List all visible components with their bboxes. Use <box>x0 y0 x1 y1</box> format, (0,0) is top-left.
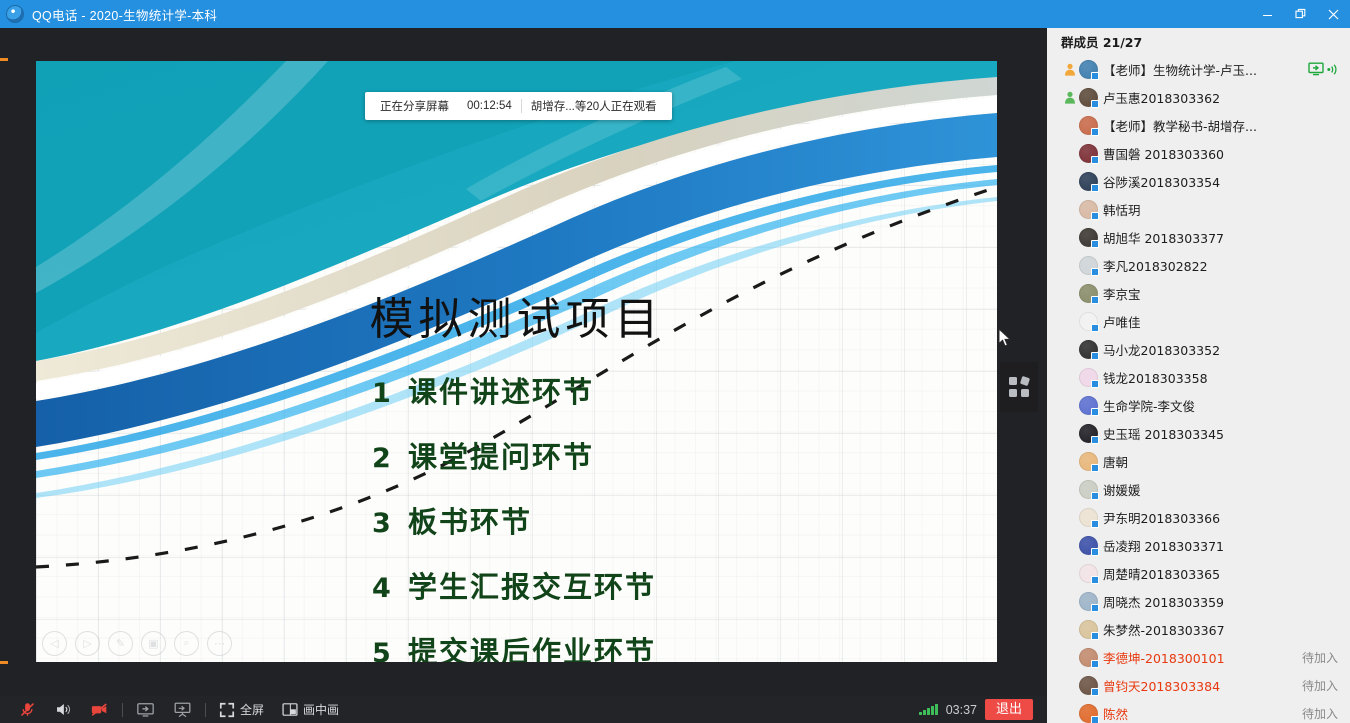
previous-slide-icon[interactable]: ◁ <box>42 631 67 656</box>
close-button[interactable] <box>1317 0 1350 28</box>
member-device-badge <box>1091 296 1099 304</box>
member-list-item[interactable]: 岳凌翔 2018303371 <box>1047 531 1350 559</box>
member-list-item[interactable]: 李京宝 <box>1047 279 1350 307</box>
member-avatar <box>1079 368 1098 387</box>
member-list-item[interactable]: 卢玉惠2018303362 <box>1047 83 1350 111</box>
member-device-badge <box>1091 100 1099 108</box>
member-name: 马小龙2018303352 <box>1103 340 1220 359</box>
presentation-slide: 模拟测试项目 1 课件讲述环节 2 课堂提问环节 3 板书环节 4 学生汇报交互… <box>36 61 997 662</box>
member-list-item[interactable]: 卢唯佳 <box>1047 307 1350 335</box>
member-name: 卢玉惠2018303362 <box>1103 88 1220 107</box>
member-device-badge <box>1091 408 1099 416</box>
qq-penguin-icon <box>6 5 24 23</box>
whiteboard-icon <box>173 701 192 718</box>
member-list-item[interactable]: 胡旭华 2018303377 <box>1047 223 1350 251</box>
member-avatar <box>1079 592 1098 611</box>
member-list-item[interactable]: 李凡2018302822 <box>1047 251 1350 279</box>
fullscreen-icon <box>219 702 235 718</box>
member-list-item[interactable]: 【老师】教学秘书-胡增存... <box>1047 111 1350 139</box>
member-avatar <box>1079 200 1098 219</box>
member-name: 史玉瑶 2018303345 <box>1103 424 1224 443</box>
toolbar-right-group: 03:37 退出 <box>919 699 1037 720</box>
qq-call-window: QQ电话 - 2020-生物统计学-本科 <box>0 0 1350 723</box>
member-name: 卢唯佳 <box>1103 312 1141 331</box>
bullet-item: 1 课件讲述环节 <box>372 369 932 411</box>
member-device-badge <box>1091 324 1099 332</box>
slide-bullet-list: 1 课件讲述环节 2 课堂提问环节 3 板书环节 4 学生汇报交互环节 5 <box>372 369 932 662</box>
bullet-item: 4 学生汇报交互环节 <box>372 564 932 606</box>
member-avatar <box>1079 508 1098 527</box>
exit-call-button[interactable]: 退出 <box>985 699 1033 720</box>
member-list-item[interactable]: 朱梦然-2018303367 <box>1047 615 1350 643</box>
toolbar-divider <box>122 703 123 717</box>
window-title: QQ电话 - 2020-生物统计学-本科 <box>32 5 217 24</box>
member-list-item[interactable]: 周楚晴2018303365 <box>1047 559 1350 587</box>
member-device-badge <box>1091 604 1099 612</box>
share-screen-button[interactable] <box>127 696 164 723</box>
member-name: 谷陟溪2018303354 <box>1103 172 1220 191</box>
member-name: 【老师】生物统计学-卢玉... <box>1103 60 1257 79</box>
member-name: 胡旭华 2018303377 <box>1103 228 1224 247</box>
member-status: 待加入 <box>1302 705 1338 722</box>
shared-screen-stage[interactable]: 模拟测试项目 1 课件讲述环节 2 课堂提问环节 3 板书环节 4 学生汇报交互… <box>0 28 1047 696</box>
share-screen-icon <box>136 701 155 718</box>
restore-button[interactable] <box>1284 0 1317 28</box>
bullet-number: 5 <box>372 638 408 662</box>
member-list-item[interactable]: 陈然待加入 <box>1047 699 1350 723</box>
member-name: 谢媛媛 <box>1103 480 1141 499</box>
bullet-item: 2 课堂提问环节 <box>372 434 932 476</box>
member-device-badge <box>1091 520 1099 528</box>
toolbar-divider <box>205 703 206 717</box>
call-timer: 03:37 <box>946 703 977 717</box>
pen-annotate-icon[interactable]: ✎ <box>108 631 133 656</box>
grid-layout-icon <box>1009 377 1029 397</box>
bullet-number: 4 <box>372 573 408 604</box>
more-options-icon[interactable]: ⋯ <box>207 631 232 656</box>
speaking-person-icon <box>1063 63 1076 76</box>
signal-bars-icon <box>919 704 938 715</box>
member-name: 李京宝 <box>1103 284 1141 303</box>
member-device-badge <box>1091 268 1099 276</box>
bullet-text: 提交课后作业环节 <box>408 629 656 662</box>
speaker-icon <box>54 701 72 718</box>
member-avatar <box>1079 116 1098 135</box>
share-status-text: 正在分享屏幕 <box>371 98 458 114</box>
member-name: 韩恬玥 <box>1103 200 1141 219</box>
member-device-badge <box>1091 240 1099 248</box>
slide-title: 模拟测试项目 <box>36 283 997 347</box>
fullscreen-button[interactable]: 全屏 <box>210 696 273 723</box>
grid-layout-toggle[interactable] <box>1000 362 1038 412</box>
bullet-text: 学生汇报交互环节 <box>408 564 656 606</box>
member-device-badge <box>1091 352 1099 360</box>
member-name: 生命学院-李文俊 <box>1103 396 1195 415</box>
member-name: 陈然 <box>1103 704 1128 723</box>
member-avatar <box>1079 704 1098 723</box>
microphone-muted-icon <box>19 701 36 718</box>
member-list-item[interactable]: 李德坤-2018300101待加入 <box>1047 643 1350 671</box>
member-list-item[interactable]: 唐朝 <box>1047 447 1350 475</box>
member-list-item[interactable]: 曹国磐 2018303360 <box>1047 139 1350 167</box>
member-avatar <box>1079 284 1098 303</box>
speaking-waves-icon <box>1327 63 1338 76</box>
bullet-item: 3 板书环节 <box>372 499 932 541</box>
member-list-item[interactable]: 谢媛媛 <box>1047 475 1350 503</box>
member-list[interactable]: 【老师】生物统计学-卢玉...卢玉惠2018303362【老师】教学秘书-胡增存… <box>1047 55 1350 723</box>
bullet-item: 5 提交课后作业环节 <box>372 629 932 662</box>
member-device-badge <box>1091 716 1099 723</box>
zoom-magnifier-icon[interactable]: ⌕ <box>174 631 199 656</box>
member-avatar <box>1079 256 1098 275</box>
left-accent-top <box>0 58 8 61</box>
member-device-badge <box>1091 156 1099 164</box>
bullet-number: 2 <box>372 443 408 474</box>
member-panel-header: 群成员 21/27 <box>1047 28 1350 55</box>
ppt-playback-controls[interactable]: ◁ ▷ ✎ ▣ ⌕ ⋯ <box>42 631 232 656</box>
screen-share-banner: 正在分享屏幕 00:12:54 胡增存...等20人正在观看 <box>365 92 672 120</box>
member-name: 尹东明2018303366 <box>1103 508 1220 527</box>
window-controls <box>1251 0 1350 28</box>
member-status: 待加入 <box>1302 677 1338 694</box>
member-list-item[interactable]: 马小龙2018303352 <box>1047 335 1350 363</box>
member-avatar <box>1079 676 1098 695</box>
member-name: 朱梦然-2018303367 <box>1103 620 1225 639</box>
member-avatar <box>1079 648 1098 667</box>
window-titlebar[interactable]: QQ电话 - 2020-生物统计学-本科 <box>0 0 1350 28</box>
pip-label: 画中画 <box>303 701 339 718</box>
member-name: 曾钧天2018303384 <box>1103 676 1220 695</box>
member-avatar <box>1079 396 1098 415</box>
mouse-pointer-icon <box>998 328 1012 348</box>
member-avatar <box>1079 480 1098 499</box>
member-name: 李德坤-2018300101 <box>1103 648 1225 667</box>
member-device-badge <box>1091 688 1099 696</box>
member-status: 待加入 <box>1302 649 1338 666</box>
bullet-text: 课件讲述环节 <box>408 369 594 411</box>
speaking-person-icon <box>1063 91 1076 104</box>
member-list-item[interactable]: 周晓杰 2018303359 <box>1047 587 1350 615</box>
member-avatar <box>1079 172 1098 191</box>
speaker-toggle[interactable] <box>45 696 81 723</box>
member-device-badge <box>1091 128 1099 136</box>
bullet-text: 课堂提问环节 <box>408 434 594 476</box>
member-name: 岳凌翔 2018303371 <box>1103 536 1224 555</box>
picture-in-picture-icon <box>282 702 298 717</box>
member-panel[interactable]: 群成员 21/27 【老师】生物统计学-卢玉...卢玉惠2018303362【老… <box>1047 28 1350 723</box>
member-list-item[interactable]: 史玉瑶 2018303345 <box>1047 419 1350 447</box>
member-device-badge <box>1091 212 1099 220</box>
member-avatar <box>1079 60 1098 79</box>
share-duration: 00:12:54 <box>458 100 521 112</box>
member-avatar <box>1079 620 1098 639</box>
member-list-item[interactable]: 钱龙2018303358 <box>1047 363 1350 391</box>
bullet-text: 板书环节 <box>408 499 532 541</box>
member-list-item[interactable]: 生命学院-李文俊 <box>1047 391 1350 419</box>
member-avatar <box>1079 536 1098 555</box>
bullet-number: 1 <box>372 378 408 409</box>
member-avatar <box>1079 88 1098 107</box>
member-device-badge <box>1091 72 1099 80</box>
member-device-badge <box>1091 436 1099 444</box>
fullscreen-label: 全屏 <box>240 701 264 718</box>
bullet-number: 3 <box>372 508 408 539</box>
slide-overview-icon[interactable]: ▣ <box>141 631 166 656</box>
member-device-badge <box>1091 464 1099 472</box>
member-device-badge <box>1091 576 1099 584</box>
member-name: 钱龙2018303358 <box>1103 368 1208 387</box>
member-avatar <box>1079 452 1098 471</box>
member-sharing-indicator <box>1308 62 1338 76</box>
pip-button[interactable]: 画中画 <box>273 696 348 723</box>
member-avatar <box>1079 312 1098 331</box>
next-slide-icon[interactable]: ▷ <box>75 631 100 656</box>
call-toolbar[interactable]: 全屏 画中画 03:37 退出 <box>0 696 1047 723</box>
member-name: 周晓杰 2018303359 <box>1103 592 1224 611</box>
member-avatar <box>1079 144 1098 163</box>
member-name: 周楚晴2018303365 <box>1103 564 1220 583</box>
member-avatar <box>1079 228 1098 247</box>
member-name: 李凡2018302822 <box>1103 256 1208 275</box>
member-list-item[interactable]: 韩恬玥 <box>1047 195 1350 223</box>
member-name: 【老师】教学秘书-胡增存... <box>1103 116 1257 135</box>
member-avatar <box>1079 564 1098 583</box>
member-name: 曹国磐 2018303360 <box>1103 144 1224 163</box>
camera-muted-icon <box>90 701 109 718</box>
member-name: 唐朝 <box>1103 452 1128 471</box>
camera-toggle[interactable] <box>81 696 118 723</box>
left-accent-bottom <box>0 661 8 664</box>
member-device-badge <box>1091 632 1099 640</box>
screen-share-icon <box>1308 62 1324 76</box>
member-device-badge <box>1091 660 1099 668</box>
member-list-item[interactable]: 曾钧天2018303384待加入 <box>1047 671 1350 699</box>
share-viewers: 胡增存...等20人正在观看 <box>522 98 666 114</box>
member-avatar <box>1079 340 1098 359</box>
microphone-toggle[interactable] <box>10 696 45 723</box>
member-device-badge <box>1091 548 1099 556</box>
member-avatar <box>1079 424 1098 443</box>
member-device-badge <box>1091 184 1099 192</box>
minimize-button[interactable] <box>1251 0 1284 28</box>
member-list-item[interactable]: 谷陟溪2018303354 <box>1047 167 1350 195</box>
member-device-badge <box>1091 380 1099 388</box>
member-list-item[interactable]: 尹东明2018303366 <box>1047 503 1350 531</box>
member-device-badge <box>1091 492 1099 500</box>
member-list-item[interactable]: 【老师】生物统计学-卢玉... <box>1047 55 1350 83</box>
whiteboard-button[interactable] <box>164 696 201 723</box>
